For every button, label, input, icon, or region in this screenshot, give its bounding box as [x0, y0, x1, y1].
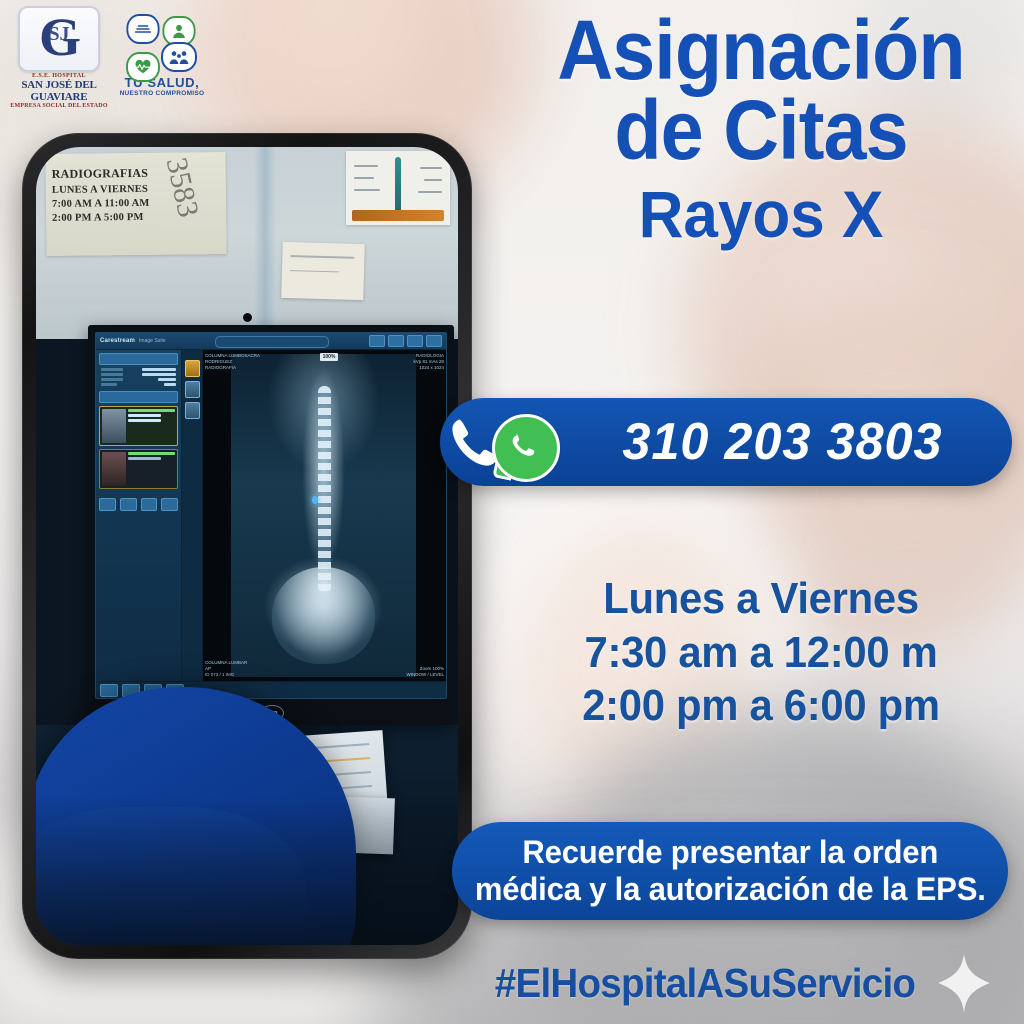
schedule-block: Lunes a Viernes 7:30 am a 12:00 m 2:00 p… [512, 572, 1010, 733]
patient-search-input[interactable] [215, 336, 329, 348]
hashtag: #ElHospitalASuServicio [484, 960, 926, 1007]
promotional-poster: G SJ E.S.E. HOSPITAL SAN JOSÉ DEL GUAVIA… [0, 0, 1024, 1024]
app-name: Carestream [100, 338, 135, 344]
pacs-viewer-app: Carestream Image Suite [95, 332, 447, 699]
logo-line-3: EMPRESA SOCIAL DEL ESTADO [10, 103, 108, 109]
app-subtitle: Image Suite [139, 338, 166, 344]
hospital-building-icon [126, 14, 159, 44]
sticky-note [281, 242, 364, 300]
monogram-sj: SJ [20, 24, 98, 44]
toolbar-buttons[interactable] [369, 335, 442, 347]
tu-salud-icon-grid [125, 14, 199, 72]
tu-salud-line-1: TU SALUD, [112, 75, 212, 90]
reminder-banner: Recuerde presentar la orden médica y la … [452, 822, 1008, 920]
xray-viewport[interactable]: 100% COLUMNA LUMBOSACRARODRIGUEZRADIOGRA… [203, 350, 446, 681]
sparkle-star-icon [936, 952, 992, 1014]
anatomy-poster [346, 151, 450, 225]
schedule-morning: 7:30 am a 12:00 m [524, 626, 997, 680]
wall-schedule-sign: RADIOGRAFIAS LUNES A VIERNES 7:00 AM A 1… [45, 152, 226, 256]
series-thumbnail[interactable] [99, 406, 178, 446]
schedule-days: Lunes a Viernes [524, 572, 997, 626]
image-label-top-right: RADIOLOGIAkVp 81 mAs 201024 x 1024 [413, 353, 444, 371]
title-line-2: de Citas [532, 90, 990, 171]
tu-salud-line-2: NUESTRO COMPROMISO [112, 90, 212, 97]
tu-salud-logo: TU SALUD, NUESTRO COMPROMISO [112, 14, 212, 97]
series-thumbnail[interactable] [99, 449, 178, 489]
whatsapp-glyph-icon [492, 414, 554, 476]
app-toolbar: Carestream Image Suite [96, 333, 446, 350]
series-header [99, 391, 178, 403]
ese-hospital-logo: G SJ E.S.E. HOSPITAL SAN JOSÉ DEL GUAVIA… [10, 6, 108, 106]
webcam-dot [243, 313, 252, 322]
contact-icons [440, 398, 580, 486]
phone-screen: RADIOGRAFIAS LUNES A VIERNES 7:00 AM A 1… [36, 147, 458, 945]
title-line-1: Asignación [532, 14, 990, 88]
heartbeat-icon [126, 52, 160, 82]
image-label-bottom-left: COLUMNA LUMBARAPID 073 / 1 IMG [205, 660, 247, 678]
patient-panel [96, 350, 182, 681]
logo-bar: G SJ E.S.E. HOSPITAL SAN JOSÉ DEL GUAVIA… [0, 0, 260, 120]
family-group-icon [161, 42, 197, 72]
reminder-line-1: Recuerde presentar la orden [522, 834, 938, 871]
whatsapp-number[interactable]: 310 203 3803 [586, 412, 1005, 472]
hospital-monogram-icon: G SJ [18, 6, 100, 72]
panel-title [99, 353, 178, 365]
lumbar-spine-xray [231, 354, 416, 677]
phone-mockup: RADIOGRAFIAS LUNES A VIERNES 7:00 AM A 1… [22, 133, 472, 959]
logo-line-2: SAN JOSÉ DEL GUAVIARE [10, 79, 108, 103]
tool-rail[interactable] [182, 350, 203, 681]
whatsapp-contact-badge[interactable]: 310 203 3803 [440, 398, 1012, 486]
zoom-level-chip: 100% [320, 353, 339, 361]
radiology-monitor: Carestream Image Suite [88, 325, 454, 725]
image-label-top-left: COLUMNA LUMBOSACRARODRIGUEZRADIOGRAFIA [205, 353, 260, 371]
page-title: Asignación de Citas Rayos X [512, 14, 1010, 248]
title-line-3: Rayos X [527, 181, 995, 248]
image-label-bottom-right: Zoom 100%WINDOW / LEVEL [406, 666, 444, 678]
reminder-line-2: médica y la autorización de la EPS. [475, 871, 986, 908]
sign-header: RADIOGRAFIAS [52, 165, 226, 182]
schedule-afternoon: 2:00 pm a 6:00 pm [524, 679, 997, 733]
